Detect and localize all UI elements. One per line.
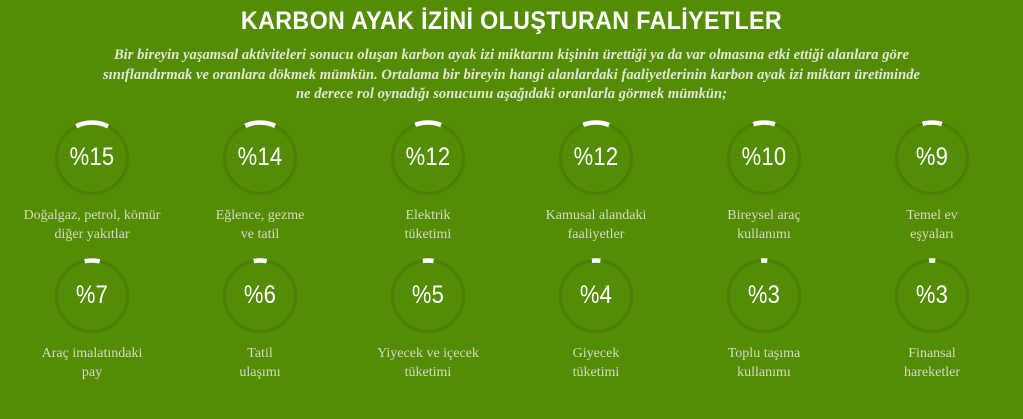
gauge-cell-giyecek-tuketimi: %4Giyecektüketimi: [512, 257, 680, 382]
gauge-label-line-1: Toplu taşıma: [728, 346, 801, 361]
gauge-value-temel-ev-esyalari: %9: [898, 119, 967, 197]
gauge-label-line-2: pay: [8, 363, 176, 382]
gauge-cell-tatil-ulasimi: %6Tatilulaşımı: [176, 257, 344, 382]
gauge-label-line-1: Elektrik: [405, 208, 450, 223]
gauge-label-toplu-tasima-kullanimi: Toplu taşımakullanımı: [680, 344, 848, 382]
gauge-value-dogalgaz-petrol-komur: %15: [58, 119, 127, 197]
gauge-label-yiyecek-ve-icecek-tuketimi: Yiyecek ve içecektüketimi: [344, 344, 512, 382]
donut-gauge-yiyecek-ve-icecek-tuketimi: %5: [389, 257, 467, 335]
donut-gauge-giyecek-tuketimi: %4: [557, 257, 635, 335]
carbon-footprint-infographic: KARBON AYAK İZİNİ OLUŞTURAN FALİYETLER B…: [0, 0, 1023, 419]
gauge-label-bireysel-arac-kullanimi: Bireysel araçkullanımı: [680, 206, 848, 244]
page-title: KARBON AYAK İZİNİ OLUŞTURAN FALİYETLER: [36, 0, 987, 36]
gauge-cell-yiyecek-ve-icecek-tuketimi: %5Yiyecek ve içecektüketimi: [344, 257, 512, 382]
gauge-cell-finansal-hareketler: %3Finansalhareketler: [848, 257, 1016, 382]
donut-gauge-tatil-ulasimi: %6: [221, 257, 299, 335]
gauge-label-line-2: ve tatil: [176, 225, 344, 244]
donut-gauge-toplu-tasima-kullanimi: %3: [725, 257, 803, 335]
gauge-label-line-1: Tatil: [247, 346, 272, 361]
gauge-value-finansal-hareketler: %3: [898, 257, 967, 335]
gauge-label-finansal-hareketler: Finansalhareketler: [848, 344, 1016, 382]
intro-paragraph: Bir bireyin yaşamsal aktiviteleri sonucu…: [102, 46, 922, 105]
intro-line-2: sınıflandırmak ve oranlara dökmek mümkün…: [103, 67, 851, 83]
gauge-label-line-1: Eğlence, gezme: [216, 208, 305, 223]
gauge-label-tatil-ulasimi: Tatilulaşımı: [176, 344, 344, 382]
gauge-row-2: %7Araç imalatındakipay%6Tatilulaşımı%5Yi…: [0, 257, 1023, 382]
gauge-value-kamusal-alandaki-faaliyetler: %12: [562, 119, 631, 197]
donut-gauge-eglence-gezme-tatil: %14: [221, 119, 299, 197]
gauge-label-line-2: diğer yakıtlar: [8, 225, 176, 244]
gauge-label-temel-ev-esyalari: Temel eveşyaları: [848, 206, 1016, 244]
gauge-label-line-1: Yiyecek ve içecek: [377, 346, 479, 361]
gauge-cell-elektrik-tuketimi: %12Elektriktüketimi: [344, 119, 512, 244]
donut-gauge-kamusal-alandaki-faaliyetler: %12: [557, 119, 635, 197]
donut-gauge-temel-ev-esyalari: %9: [893, 119, 971, 197]
gauge-label-line-1: Finansal: [908, 346, 955, 361]
gauge-label-line-1: Kamusal alandaki: [546, 208, 647, 223]
donut-gauge-elektrik-tuketimi: %12: [389, 119, 467, 197]
gauge-cell-arac-imalatindaki-pay: %7Araç imalatındakipay: [8, 257, 176, 382]
donut-gauge-arac-imalatindaki-pay: %7: [53, 257, 131, 335]
gauge-label-eglence-gezme-tatil: Eğlence, gezmeve tatil: [176, 206, 344, 244]
gauge-cell-temel-ev-esyalari: %9Temel eveşyaları: [848, 119, 1016, 244]
gauge-label-line-2: tüketimi: [512, 363, 680, 382]
gauge-cell-kamusal-alandaki-faaliyetler: %12Kamusal alandakifaaliyetler: [512, 119, 680, 244]
donut-gauge-bireysel-arac-kullanimi: %10: [725, 119, 803, 197]
gauge-label-line-1: Doğalgaz, petrol, kömür: [24, 208, 161, 223]
gauge-label-line-2: kullanımı: [680, 225, 848, 244]
gauge-label-line-1: Araç imalatındaki: [42, 346, 143, 361]
gauge-value-giyecek-tuketimi: %4: [562, 257, 631, 335]
gauge-value-toplu-tasima-kullanimi: %3: [730, 257, 799, 335]
gauge-cell-toplu-tasima-kullanimi: %3Toplu taşımakullanımı: [680, 257, 848, 382]
gauge-label-line-2: tüketimi: [344, 225, 512, 244]
gauge-label-elektrik-tuketimi: Elektriktüketimi: [344, 206, 512, 244]
gauge-label-line-2: tüketimi: [344, 363, 512, 382]
gauge-value-elektrik-tuketimi: %12: [394, 119, 463, 197]
gauge-label-kamusal-alandaki-faaliyetler: Kamusal alandakifaaliyetler: [512, 206, 680, 244]
gauge-label-line-1: Bireysel araç: [727, 208, 800, 223]
intro-line-1: Bir bireyin yaşamsal aktiviteleri sonucu…: [114, 47, 909, 63]
gauge-grid: %15Doğalgaz, petrol, kömürdiğer yakıtlar…: [0, 119, 1023, 382]
donut-gauge-finansal-hareketler: %3: [893, 257, 971, 335]
gauge-value-yiyecek-ve-icecek-tuketimi: %5: [394, 257, 463, 335]
gauge-cell-eglence-gezme-tatil: %14Eğlence, gezmeve tatil: [176, 119, 344, 244]
gauge-label-arac-imalatindaki-pay: Araç imalatındakipay: [8, 344, 176, 382]
gauge-cell-dogalgaz-petrol-komur: %15Doğalgaz, petrol, kömürdiğer yakıtlar: [8, 119, 176, 244]
donut-gauge-dogalgaz-petrol-komur: %15: [53, 119, 131, 197]
gauge-label-line-1: Giyecek: [573, 346, 620, 361]
gauge-label-line-2: ulaşımı: [176, 363, 344, 382]
gauge-label-line-2: eşyaları: [848, 225, 1016, 244]
gauge-label-line-2: kullanımı: [680, 363, 848, 382]
gauge-row-1: %15Doğalgaz, petrol, kömürdiğer yakıtlar…: [0, 119, 1023, 244]
gauge-label-line-1: Temel ev: [906, 208, 958, 223]
gauge-label-dogalgaz-petrol-komur: Doğalgaz, petrol, kömürdiğer yakıtlar: [8, 206, 176, 244]
gauge-cell-bireysel-arac-kullanimi: %10Bireysel araçkullanımı: [680, 119, 848, 244]
gauge-label-line-2: hareketler: [848, 363, 1016, 382]
gauge-value-eglence-gezme-tatil: %14: [226, 119, 295, 197]
gauge-value-arac-imalatindaki-pay: %7: [58, 257, 127, 335]
gauge-value-tatil-ulasimi: %6: [226, 257, 295, 335]
gauge-label-giyecek-tuketimi: Giyecektüketimi: [512, 344, 680, 382]
gauge-value-bireysel-arac-kullanimi: %10: [730, 119, 799, 197]
gauge-label-line-2: faaliyetler: [512, 225, 680, 244]
